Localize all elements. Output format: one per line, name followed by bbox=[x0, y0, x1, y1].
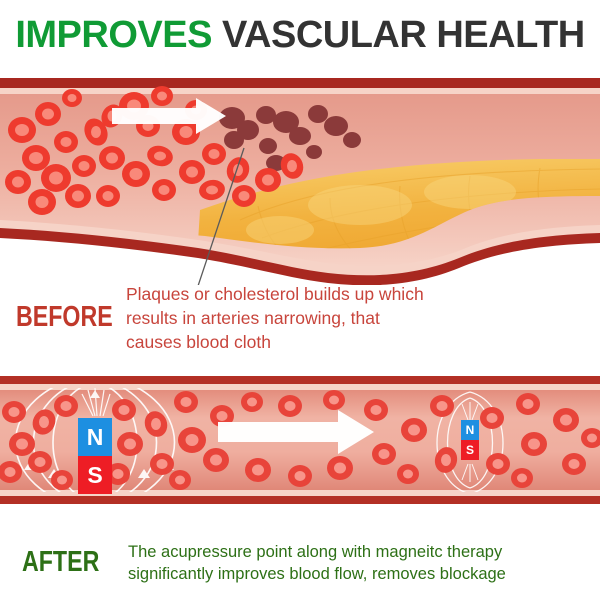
magnet-small-south-pole: S bbox=[461, 440, 479, 460]
magnet-large: N S bbox=[78, 418, 112, 494]
before-caption: Plaques or cholesterol builds up which r… bbox=[126, 282, 586, 354]
after-label: AFTER bbox=[22, 546, 119, 579]
before-artery-illustration bbox=[0, 70, 600, 285]
page-title: IMPROVES VASCULAR HEALTH bbox=[0, 12, 600, 58]
after-caption: The acupressure point along with magneit… bbox=[128, 541, 598, 585]
magnet-small: N S bbox=[461, 420, 479, 460]
title-rest: VASCULAR HEALTH bbox=[212, 14, 585, 56]
magnet-large-south-pole: S bbox=[78, 456, 112, 494]
before-label: BEFORE bbox=[16, 301, 137, 334]
title-highlight: IMPROVES bbox=[15, 14, 212, 56]
magnet-large-north-pole: N bbox=[78, 418, 112, 456]
infographic-root: IMPROVES VASCULAR HEALTH bbox=[0, 0, 600, 600]
magnet-small-north-pole: N bbox=[461, 420, 479, 440]
